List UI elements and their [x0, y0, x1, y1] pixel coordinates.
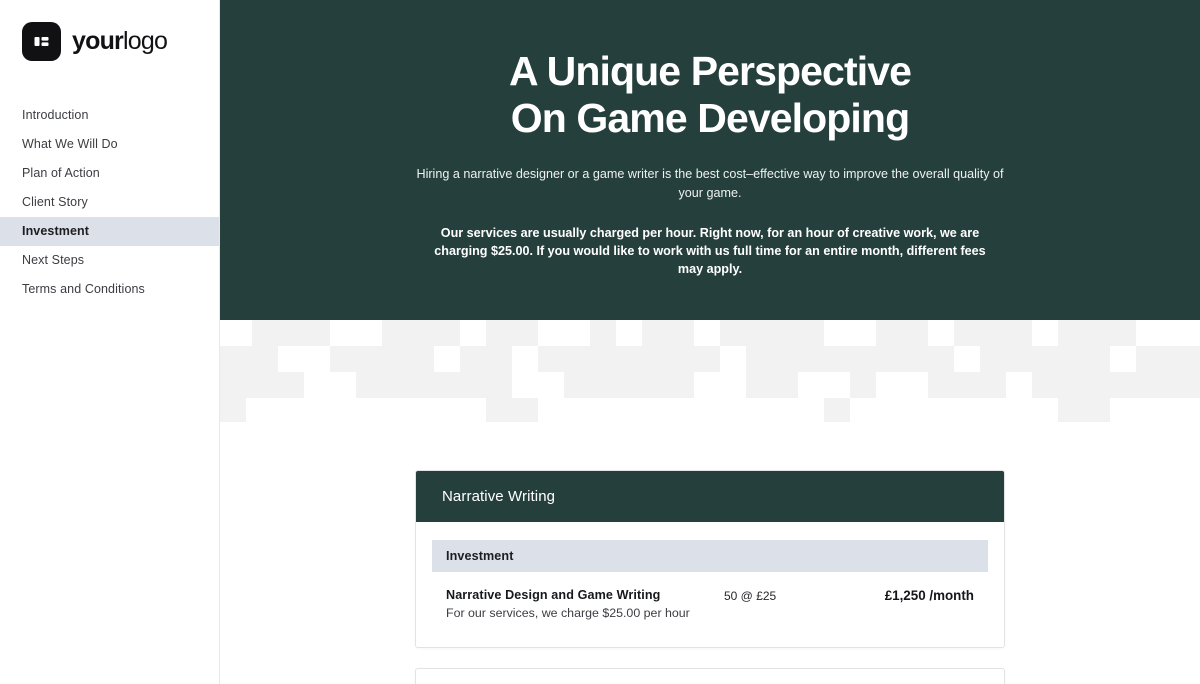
logo-wordmark: yourlogo	[72, 27, 167, 56]
sidebar-item-investment[interactable]: Investment	[0, 217, 219, 246]
sidebar-item-next-steps[interactable]: Next Steps	[0, 246, 219, 275]
line-item-description-cell: Narrative Design and Game Writing For ou…	[446, 588, 692, 621]
main-content: A Unique Perspective On Game Developing …	[220, 0, 1200, 684]
line-item-name: Narrative Design and Game Writing	[446, 588, 692, 602]
sidebar-item-what-we-will-do[interactable]: What We Will Do	[0, 130, 219, 159]
line-item-detail: For our services, we charge $25.00 per h…	[446, 605, 692, 621]
sidebar: yourlogo Introduction What We Will Do Pl…	[0, 0, 220, 684]
section-label-investment: Investment	[432, 540, 988, 572]
hero-banner: A Unique Perspective On Game Developing …	[220, 0, 1200, 320]
card-body: Investment Narrative Design and Game Wri…	[416, 522, 1004, 647]
logo-word-bold: your	[72, 27, 123, 55]
page-title: A Unique Perspective On Game Developing	[310, 48, 1110, 141]
card-narrative-writing: Narrative Writing Investment Narrative D…	[415, 470, 1005, 648]
investment-cards: Narrative Writing Investment Narrative D…	[220, 422, 1200, 684]
layout-dashboard-icon	[22, 22, 61, 61]
table-row: Narrative Design and Game Writing For ou…	[432, 572, 988, 621]
logo-word-regular: logo	[123, 27, 167, 55]
sidebar-item-introduction[interactable]: Introduction	[0, 101, 219, 130]
sidebar-item-plan-of-action[interactable]: Plan of Action	[0, 159, 219, 188]
sidebar-item-client-story[interactable]: Client Story	[0, 188, 219, 217]
line-item-price: £1,250 /month	[885, 588, 974, 603]
sidebar-item-terms-and-conditions[interactable]: Terms and Conditions	[0, 275, 219, 304]
logo[interactable]: yourlogo	[0, 0, 219, 61]
decorative-pixel-pattern	[220, 320, 1200, 422]
page-title-line-2: On Game Developing	[511, 95, 909, 141]
page-title-line-1: A Unique Perspective	[509, 48, 911, 94]
sidebar-nav: Introduction What We Will Do Plan of Act…	[0, 101, 219, 304]
line-item-quantity: 50 @ £25	[692, 588, 885, 603]
hero-lede-text: Hiring a narrative designer or a game wr…	[414, 165, 1006, 202]
proposal-page: yourlogo Introduction What We Will Do Pl…	[0, 0, 1200, 684]
card-next-partial	[415, 668, 1005, 684]
hero-emphasis-text: Our services are usually charged per hou…	[420, 224, 1000, 279]
card-title: Narrative Writing	[416, 471, 1004, 522]
